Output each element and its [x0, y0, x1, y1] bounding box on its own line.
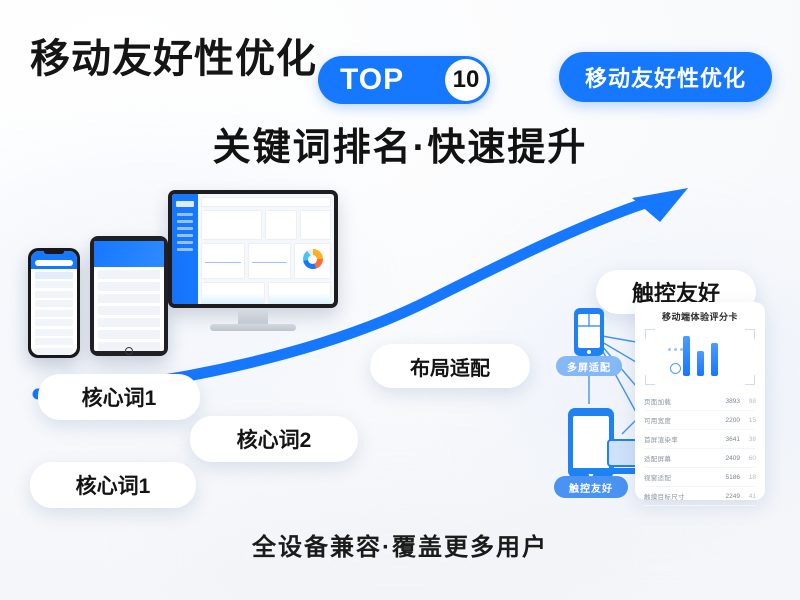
- tablet-mockup: [90, 236, 168, 356]
- score-row-name: 页面加载: [644, 396, 714, 406]
- desktop-monitor-mockup: [168, 190, 338, 331]
- score-row-delta: 41: [740, 493, 756, 500]
- page-title: 移动友好性优化: [30, 26, 317, 84]
- keyword-pill-2[interactable]: 核心词2: [190, 416, 358, 462]
- score-card-row: 触摸目标尺寸224941: [644, 487, 756, 506]
- top-badge-label: TOP: [340, 63, 404, 97]
- phone-mockup: [28, 248, 80, 358]
- diagram-pill-multiscreen: 多屏适配: [556, 356, 622, 376]
- promo-banner: 移动友好性优化 TOP 10 移动友好性优化 关键词排名·快速提升: [0, 0, 800, 600]
- score-card-row: 可用宽度220015: [644, 411, 756, 430]
- keyword-pill-1[interactable]: 核心词1: [38, 374, 200, 420]
- score-row-delta: 98: [740, 398, 756, 405]
- score-row-value: 2409: [714, 455, 740, 462]
- score-row-value: 5186: [714, 474, 740, 481]
- device-network-diagram: 多屏适配 触控友好 移动端体验评分卡 页面加载389398可用宽度220015首…: [540, 300, 770, 510]
- score-row-delta: 15: [740, 417, 756, 424]
- score-card-row: 适配屏幕240960: [644, 449, 756, 468]
- dashboard-sidebar: [172, 194, 198, 304]
- diagram-pill-touch: 触控友好: [554, 476, 628, 498]
- score-row-name: 适配屏幕: [644, 453, 714, 463]
- score-row-value: 2200: [714, 417, 740, 424]
- score-row-name: 触摸目标尺寸: [644, 491, 714, 501]
- donut-chart: [294, 243, 331, 279]
- score-row-name: 视窗适配: [644, 472, 714, 482]
- dashboard-content: [198, 194, 334, 304]
- score-row-value: 3893: [714, 398, 740, 405]
- score-row-delta: 38: [740, 436, 756, 443]
- top-rank-badge: TOP 10: [318, 56, 490, 104]
- score-card-row: 页面加载389398: [644, 392, 756, 411]
- header-tag-pill: 移动友好性优化: [559, 52, 772, 102]
- score-card-title: 移动端体验评分卡: [644, 310, 756, 323]
- score-row-name: 可用宽度: [644, 415, 714, 425]
- score-card-chart: [644, 328, 756, 386]
- score-row-value: 2249: [714, 493, 740, 500]
- phone-outline-icon: [574, 308, 604, 356]
- score-row-delta: 60: [740, 455, 756, 462]
- device-mockup-group: [28, 190, 348, 390]
- phone-notch: [44, 249, 64, 254]
- keyword-pill-layout-fit[interactable]: 布局适配: [370, 344, 530, 388]
- score-row-delta: 18: [740, 474, 756, 481]
- keyword-pill-3[interactable]: 核心词1: [30, 462, 196, 508]
- footer-tagline: 全设备兼容·覆盖更多用户: [0, 527, 800, 562]
- score-card-row: 首屏渲染率364138: [644, 430, 756, 449]
- bar-chart: [644, 334, 756, 376]
- score-card-row: 视窗适配518618: [644, 468, 756, 487]
- top-badge-number: 10: [445, 59, 487, 101]
- score-row-value: 3641: [714, 436, 740, 443]
- score-card-rows: 页面加载389398可用宽度220015首屏渲染率364138适配屏幕24096…: [644, 392, 756, 506]
- score-row-name: 首屏渲染率: [644, 434, 714, 444]
- score-card: 移动端体验评分卡 页面加载389398可用宽度220015首屏渲染率364138…: [635, 302, 765, 500]
